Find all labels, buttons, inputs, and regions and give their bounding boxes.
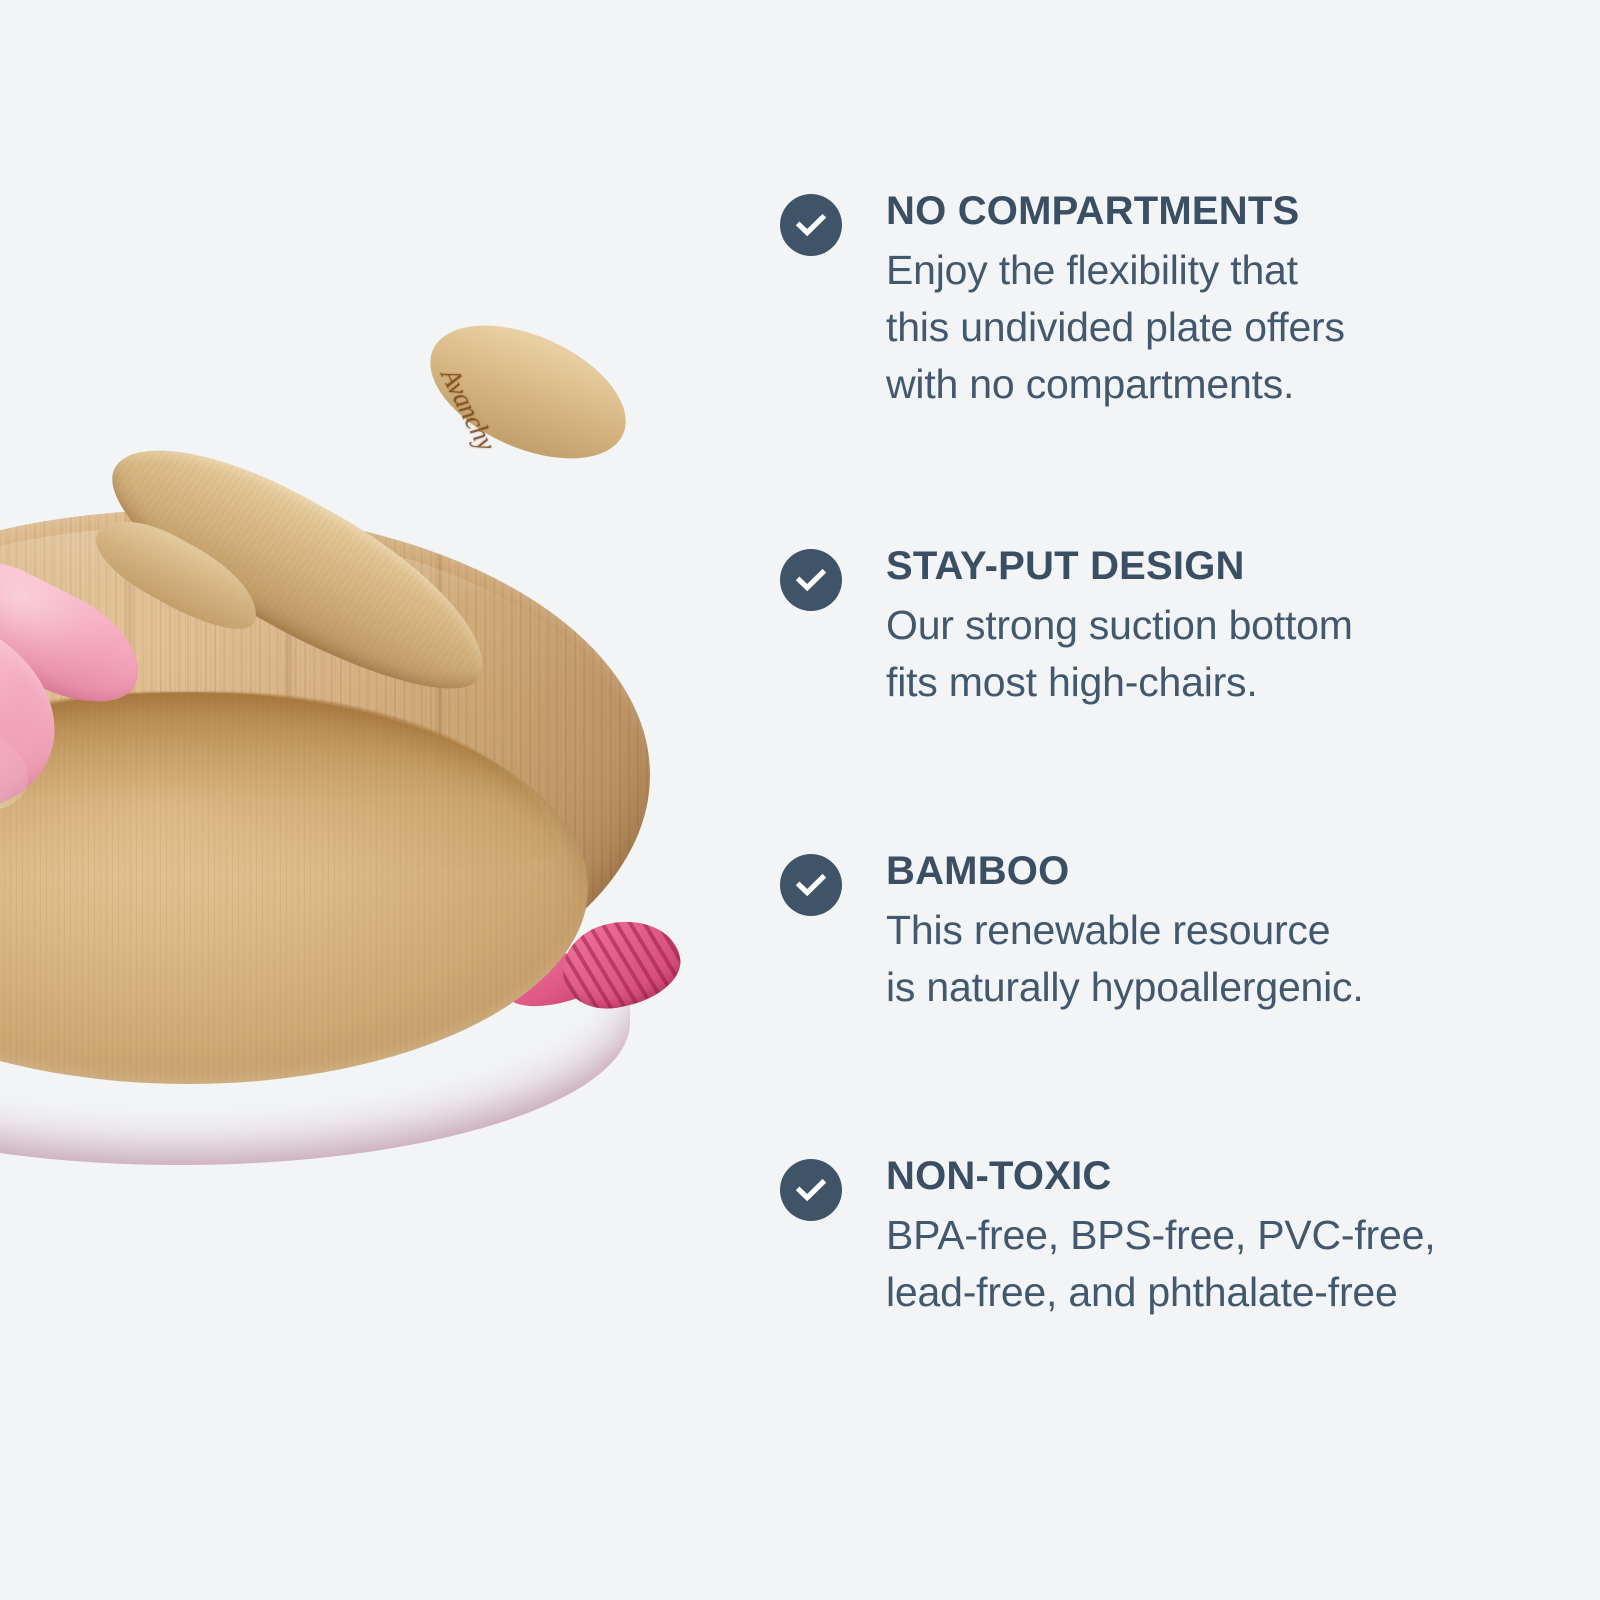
feature-description-line: This renewable resource: [886, 902, 1364, 959]
feature-title: BAMBOO: [886, 848, 1364, 895]
feature-item-bamboo: BAMBOO This renewable resource is natura…: [780, 848, 1520, 1016]
bamboo-spoon: Avanchy: [0, 388, 536, 808]
feature-description-line: BPA-free, BPS-free, PVC-free,: [886, 1207, 1435, 1264]
feature-description: This renewable resource is naturally hyp…: [886, 902, 1364, 1016]
feature-description-line: with no compartments.: [886, 356, 1345, 413]
product-stage: Avanchy: [0, 400, 780, 1210]
feature-title: NO COMPARTMENTS: [886, 188, 1345, 235]
product-photo: Avanchy: [0, 0, 790, 1600]
feature-description-line: lead-free, and phthalate-free: [886, 1264, 1435, 1321]
feature-text: STAY-PUT DESIGN Our strong suction botto…: [886, 543, 1353, 711]
feature-item-no-compartments: NO COMPARTMENTS Enjoy the flexibility th…: [780, 188, 1520, 413]
feature-item-stay-put-design: STAY-PUT DESIGN Our strong suction botto…: [780, 543, 1520, 711]
feature-description-line: Our strong suction bottom: [886, 597, 1353, 654]
feature-text: BAMBOO This renewable resource is natura…: [886, 848, 1364, 1016]
feature-description-line: is naturally hypoallergenic.: [886, 959, 1364, 1016]
feature-description-line: fits most high-chairs.: [886, 654, 1353, 711]
check-circle-icon: [780, 194, 842, 256]
feature-text: NO COMPARTMENTS Enjoy the flexibility th…: [886, 188, 1345, 413]
check-circle-icon: [780, 1159, 842, 1221]
feature-title: NON-TOXIC: [886, 1153, 1435, 1200]
feature-description-line: Enjoy the flexibility that: [886, 242, 1345, 299]
feature-list: NO COMPARTMENTS Enjoy the flexibility th…: [780, 0, 1600, 1600]
feature-description: Our strong suction bottom fits most high…: [886, 597, 1353, 711]
check-circle-icon: [780, 854, 842, 916]
feature-title: STAY-PUT DESIGN: [886, 543, 1353, 590]
feature-description-line: this undivided plate offers: [886, 299, 1345, 356]
feature-description: Enjoy the flexibility that this undivide…: [886, 242, 1345, 413]
feature-item-non-toxic: NON-TOXIC BPA-free, BPS-free, PVC-free, …: [780, 1153, 1520, 1321]
feature-text: NON-TOXIC BPA-free, BPS-free, PVC-free, …: [886, 1153, 1435, 1321]
check-circle-icon: [780, 549, 842, 611]
product-feature-infographic: Avanchy NO COMPARTMENTS Enjoy the flexib…: [0, 0, 1600, 1600]
feature-description: BPA-free, BPS-free, PVC-free, lead-free,…: [886, 1207, 1435, 1321]
